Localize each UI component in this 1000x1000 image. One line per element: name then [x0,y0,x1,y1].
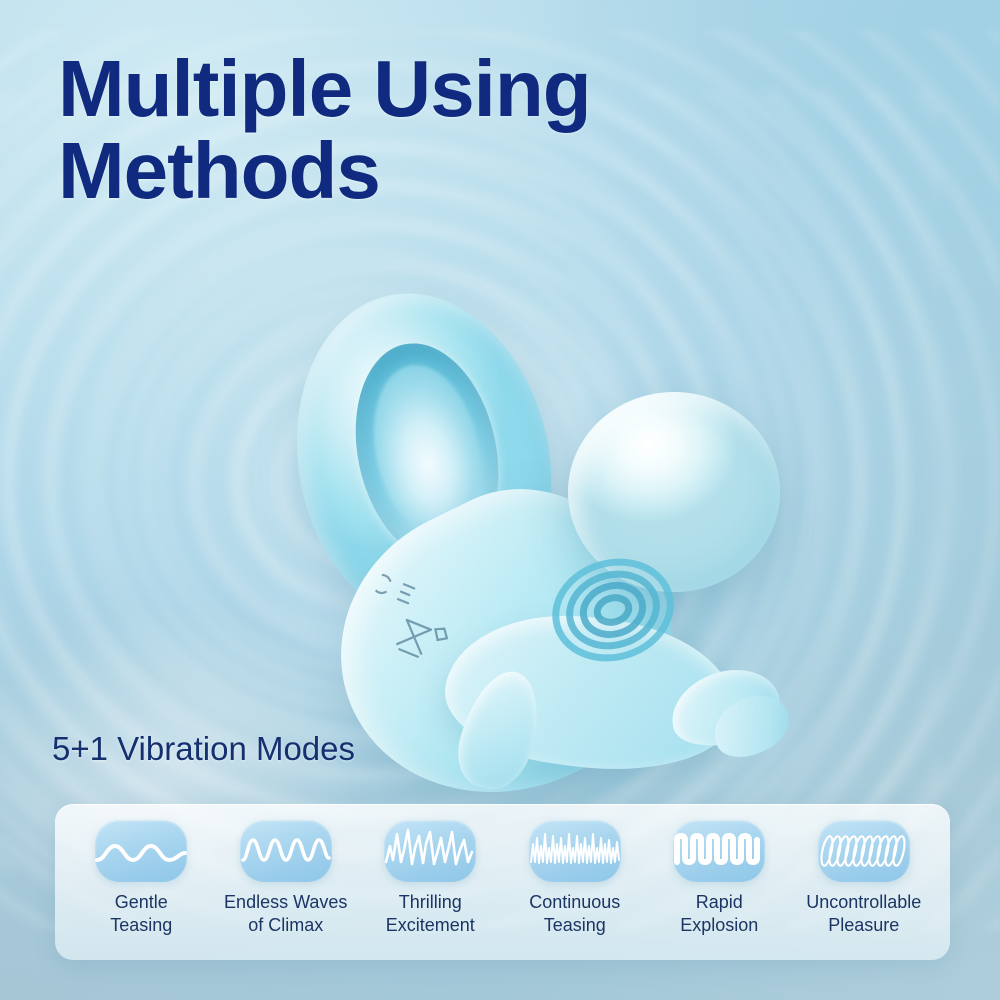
mode-label: Continuous Teasing [529,891,620,937]
title-line-2: Methods [58,130,818,212]
subtitle-vibration-modes: 5+1 Vibration Modes [52,730,355,768]
mode-item-continuous-teasing[interactable]: Continuous Teasing [503,820,648,937]
waveform-spiky-peaks-icon [384,820,476,882]
product-feature-graphic: Multiple Using Methods 5+1 Vibration Mod… [0,0,1000,1000]
mode-label: Thrilling Excitement [386,891,475,937]
mode-item-thrilling-excitement[interactable]: Thrilling Excitement [358,820,503,937]
mode-item-endless-waves-of-climax[interactable]: Endless Waves of Climax [214,820,359,937]
vibration-modes-panel: Gentle Teasing Endless Waves of Climax T… [55,804,950,960]
mode-item-uncontrollable-pleasure[interactable]: Uncontrollable Pleasure [792,820,937,937]
title-line-1: Multiple Using [58,44,591,133]
waveform-medium-sine-icon [240,820,332,882]
waveform-smooth-sine-icon [95,820,187,882]
waveform-coil-spring-icon [818,820,910,882]
mode-label: Uncontrollable Pleasure [806,891,921,937]
mode-label: Endless Waves of Climax [224,891,347,937]
waveform-square-pulse-icon [673,820,765,882]
page-title: Multiple Using Methods [58,48,818,211]
mode-item-gentle-teasing[interactable]: Gentle Teasing [69,820,214,937]
mode-item-rapid-explosion[interactable]: Rapid Explosion [647,820,792,937]
mode-label: Rapid Explosion [680,891,758,937]
product-image [250,280,870,800]
mode-label: Gentle Teasing [110,891,172,937]
waveform-dense-zigzag-icon [529,820,621,882]
